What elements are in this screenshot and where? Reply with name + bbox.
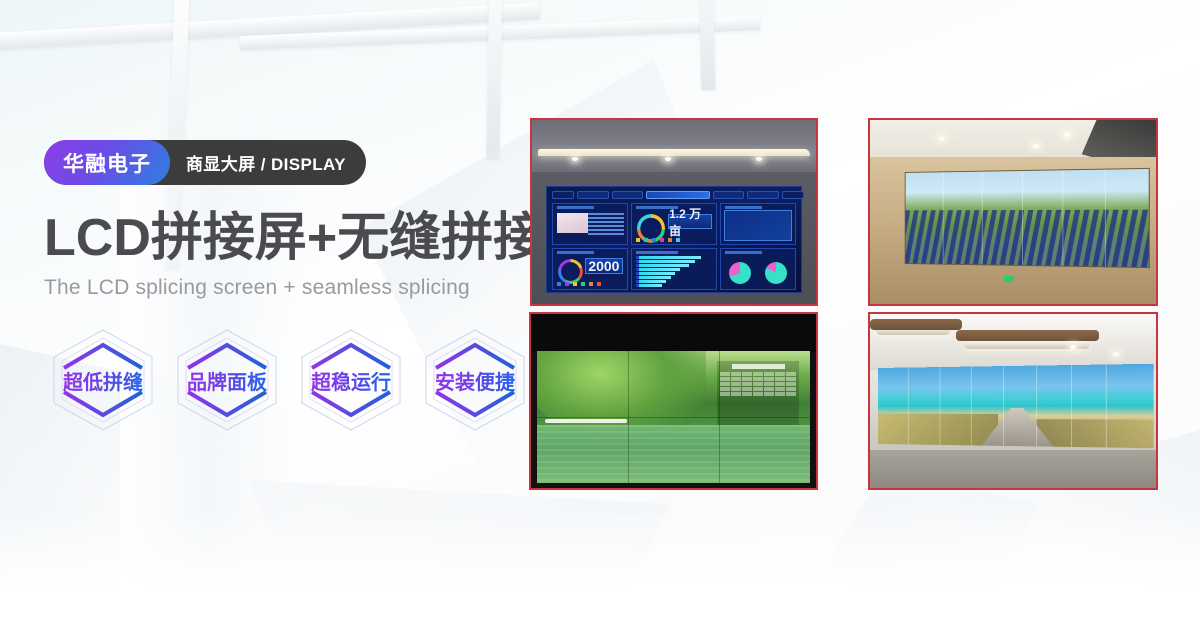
feature-hexagon: 超稳运行: [292, 324, 410, 436]
nav-item: [713, 191, 745, 199]
ceiling: [532, 120, 816, 175]
dune: [1037, 419, 1155, 448]
category-label: 商显大屏 / DISPLAY: [164, 140, 366, 185]
pillar-beam: [699, 0, 716, 90]
bar-chart: [636, 256, 712, 287]
metric-value: 2000: [585, 258, 623, 274]
brand-badge: 华融电子 商显大屏 / DISPLAY: [44, 140, 366, 185]
nav-title-active: [646, 191, 709, 199]
railing: [545, 419, 627, 423]
feature-label: 超低拼缝: [63, 366, 143, 395]
dashboard-card-bars: [631, 248, 718, 290]
promo-banner: 华融电子 商显大屏 / DISPLAY LCD拼接屏+无缝拼接 The LCD …: [0, 0, 1200, 640]
nav-timestamp: [552, 191, 574, 199]
downlight: [939, 137, 945, 141]
calendar-overlay: [717, 361, 799, 424]
video-wall-screen: [537, 351, 811, 483]
nav-item: [782, 191, 804, 199]
pie-chart: [765, 262, 787, 284]
product-photo-beach-curved-wall: [868, 312, 1158, 490]
nav-item: [747, 191, 779, 199]
mini-map: [557, 213, 588, 234]
product-photo-dashboard-wall: 1.2 万亩 2000: [530, 118, 818, 306]
feature-hexagon: 品牌面板: [168, 324, 286, 436]
dashboard-card-donut-2000: 2000: [552, 248, 627, 290]
dashboard-card-pies: [720, 248, 795, 290]
legend: [557, 282, 623, 286]
left-content-column: 华融电子 商显大屏 / DISPLAY LCD拼接屏+无缝拼接 The LCD …: [44, 140, 544, 436]
exit-sign-icon: [1004, 276, 1014, 282]
metric-value: 1.2 万亩: [668, 214, 712, 230]
donut-chart: [558, 259, 583, 284]
dune: [878, 414, 998, 446]
dashboard-grid: 1.2 万亩 2000: [552, 203, 795, 290]
solar-panel-array: [905, 210, 1148, 267]
downlight: [572, 157, 578, 161]
background-facet: [250, 480, 670, 640]
dashboard-card-donut-metric: 1.2 万亩: [631, 203, 718, 245]
downlight: [1033, 144, 1039, 148]
nav-item: [577, 191, 609, 199]
ceiling-beam: [0, 2, 540, 50]
product-photo-nature-wall: [529, 312, 818, 490]
subtitle: The LCD splicing screen + seamless splic…: [44, 276, 544, 300]
nav-item: [612, 191, 644, 199]
video-wall-screen: [904, 168, 1149, 268]
flow-diagram: [724, 210, 792, 241]
ceiling-panel: [870, 319, 962, 330]
feature-label: 品牌面板: [187, 366, 267, 395]
background-facet: [820, 470, 1040, 640]
bottom-fade: [0, 510, 1200, 640]
text-lines: [588, 213, 623, 235]
dashboard-card-map: [552, 203, 627, 245]
feature-label: 安装便捷: [435, 366, 515, 395]
pillar-beam: [486, 0, 502, 160]
ceiling-dark: [531, 314, 816, 352]
feature-hexagon: 安装便捷: [416, 324, 534, 436]
dashboard-nav: [552, 189, 795, 201]
ceiling-beam: [240, 16, 760, 50]
product-photo-solar-wide-wall: [868, 118, 1158, 306]
lake: [537, 425, 811, 483]
floor: [870, 450, 1156, 488]
dashboard-screen: 1.2 万亩 2000: [546, 186, 802, 293]
feature-hexagon: 超低拼缝: [44, 324, 162, 436]
dashboard-card-flow: [720, 203, 795, 245]
pie-chart: [729, 262, 751, 284]
video-wall-screen: [878, 364, 1154, 448]
company-name-pill: 华融电子: [44, 140, 170, 185]
feature-label: 超稳运行: [311, 366, 391, 395]
cove-light: [538, 149, 811, 156]
legend: [636, 238, 712, 242]
ceiling-panel: [956, 330, 1099, 341]
headline: LCD拼接屏+无缝拼接: [44, 211, 544, 265]
feature-hexagon-list: 超低拼缝 品牌面板 超稳运行: [44, 324, 544, 436]
